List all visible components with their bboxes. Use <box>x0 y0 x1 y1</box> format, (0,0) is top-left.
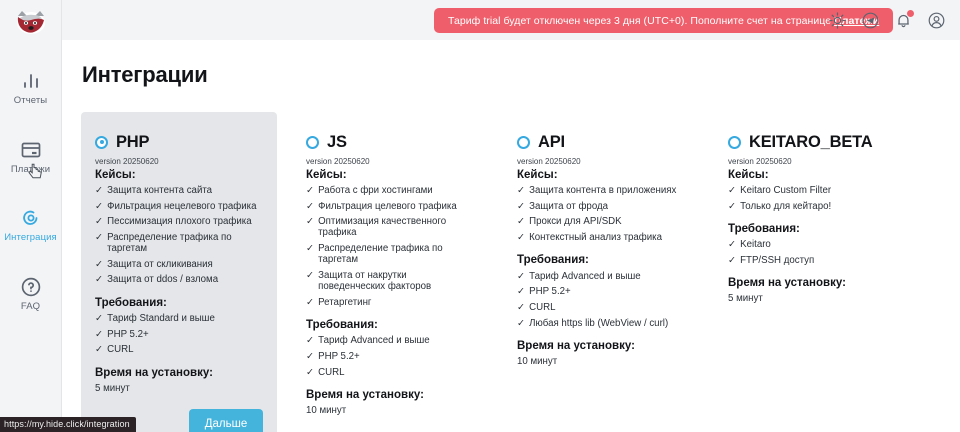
cases-heading: Кейсы: <box>95 169 263 181</box>
case-item: ✓Фильтрация нецелевого трафика <box>95 201 263 212</box>
case-label: Пессимизация плохого трафика <box>107 216 252 227</box>
question-circle-icon <box>19 275 43 299</box>
requirement-item: ✓CURL <box>95 344 263 355</box>
install-time-heading: Время на установку: <box>728 277 896 289</box>
requirement-label: Keitaro <box>740 239 771 250</box>
install-time-heading: Время на установку: <box>95 367 263 379</box>
sidebar: Отчеты Платежи Интеграция <box>0 0 62 432</box>
install-time-heading: Время на установку: <box>517 340 685 352</box>
check-icon: ✓ <box>517 232 525 243</box>
check-icon: ✓ <box>517 185 525 196</box>
case-item: ✓Защита от фрода <box>517 201 685 212</box>
requirement-label: FTP/SSH доступ <box>740 255 814 266</box>
cases-heading: Кейсы: <box>517 169 685 181</box>
card-version: version 20250620 <box>728 157 896 166</box>
card-version: version 20250620 <box>517 157 685 166</box>
check-icon: ✓ <box>95 201 103 212</box>
case-item: ✓Пессимизация плохого трафика <box>95 216 263 227</box>
requirement-item: ✓CURL <box>517 302 685 313</box>
case-item: ✓Защита от накрутки поведенческих фактор… <box>306 270 474 292</box>
radio-api[interactable] <box>517 136 530 149</box>
requirement-label: PHP 5.2+ <box>529 286 571 297</box>
requirement-item: ✓Keitaro <box>728 239 896 250</box>
integration-card-php[interactable]: PHPversion 20250620Кейсы:✓Защита контент… <box>81 112 277 432</box>
radio-keitaro_beta[interactable] <box>728 136 741 149</box>
sidebar-item-label: Отчеты <box>14 96 47 106</box>
case-label: Только для кейтаро! <box>740 201 831 212</box>
check-icon: ✓ <box>95 232 103 254</box>
requirement-item: ✓Тариф Advanced и выше <box>306 335 474 346</box>
card-header: JS <box>306 134 474 151</box>
main-content: Интеграции PHPversion 20250620Кейсы:✓Защ… <box>62 40 960 432</box>
check-icon: ✓ <box>306 335 314 346</box>
check-icon: ✓ <box>306 351 314 362</box>
card-header: KEITARO_BETA <box>728 134 896 151</box>
integration-icon <box>19 206 43 230</box>
requirement-item: ✓PHP 5.2+ <box>517 286 685 297</box>
check-icon: ✓ <box>95 185 103 196</box>
raccoon-logo-icon <box>14 8 48 36</box>
case-label: Защита от накрутки поведенческих факторо… <box>318 270 474 292</box>
case-item: ✓Распределение трафика по таргетам <box>95 232 263 254</box>
sun-icon[interactable] <box>828 11 847 30</box>
case-label: Ретаргетинг <box>318 297 371 308</box>
radio-js[interactable] <box>306 136 319 149</box>
browser-status-bar: https://my.hide.click/integration <box>0 417 136 432</box>
bell-icon[interactable] <box>894 11 913 30</box>
install-time-value: 5 минут <box>95 383 263 394</box>
cases-heading: Кейсы: <box>728 169 896 181</box>
check-icon: ✓ <box>728 201 736 212</box>
case-item: ✓Распределение трафика по таргетам <box>306 243 474 265</box>
check-icon: ✓ <box>517 201 525 212</box>
case-label: Keitaro Custom Filter <box>740 185 831 196</box>
raccoon-logo[interactable] <box>0 2 62 42</box>
requirement-label: Тариф Advanced и выше <box>318 335 429 346</box>
install-time-heading: Время на установку: <box>306 389 474 401</box>
alert-text: Тариф trial будет отключен через 3 дня (… <box>448 15 831 27</box>
case-item: ✓Только для кейтаро! <box>728 201 896 212</box>
notification-badge <box>907 10 914 17</box>
case-label: Защита от ddos / взлома <box>107 274 218 285</box>
check-icon: ✓ <box>517 318 525 329</box>
card-title: KEITARO_BETA <box>749 134 873 151</box>
card-title: PHP <box>116 134 149 151</box>
case-label: Оптимизация качественного трафика <box>318 216 474 238</box>
check-icon: ✓ <box>728 239 736 250</box>
requirement-item: ✓FTP/SSH доступ <box>728 255 896 266</box>
check-icon: ✓ <box>306 185 314 196</box>
requirement-label: Тариф Advanced и выше <box>529 271 640 282</box>
case-item: ✓Работа с фри хостингами <box>306 185 474 196</box>
requirement-item: ✓Тариф Advanced и выше <box>517 271 685 282</box>
requirement-label: PHP 5.2+ <box>318 351 360 362</box>
sidebar-item-reports[interactable]: Отчеты <box>0 60 61 115</box>
requirement-item: ✓PHP 5.2+ <box>95 329 263 340</box>
page-title: Интеграции <box>82 62 208 88</box>
case-item: ✓Защита от ddos / взлома <box>95 274 263 285</box>
card-header: PHP <box>95 134 263 151</box>
sidebar-item-faq[interactable]: FAQ <box>0 266 61 321</box>
case-item: ✓Ретаргетинг <box>306 297 474 308</box>
app-root: Отчеты Платежи Интеграция <box>0 0 960 432</box>
case-label: Распределение трафика по таргетам <box>107 232 263 254</box>
case-item: ✓Защита от скликивания <box>95 259 263 270</box>
case-label: Прокси для API/SDK <box>529 216 622 227</box>
check-icon: ✓ <box>306 243 314 265</box>
sidebar-item-payments[interactable]: Платежи <box>0 129 61 184</box>
card-version: version 20250620 <box>306 157 474 166</box>
check-icon: ✓ <box>95 216 103 227</box>
check-icon: ✓ <box>728 255 736 266</box>
check-icon: ✓ <box>306 367 314 378</box>
check-icon: ✓ <box>95 344 103 355</box>
check-icon: ✓ <box>306 297 314 308</box>
card-title: JS <box>327 134 347 151</box>
integration-card-keitaro_beta[interactable]: KEITARO_BETAversion 20250620Кейсы:✓Keita… <box>714 112 910 432</box>
case-item: ✓Защита контента в приложениях <box>517 185 685 196</box>
check-icon: ✓ <box>728 185 736 196</box>
requirement-label: CURL <box>107 344 133 355</box>
telegram-icon[interactable] <box>861 11 880 30</box>
case-label: Защита контента в приложениях <box>529 185 676 196</box>
case-label: Распределение трафика по таргетам <box>318 243 474 265</box>
case-label: Защита от скликивания <box>107 259 213 270</box>
check-icon: ✓ <box>517 286 525 297</box>
case-item: ✓Прокси для API/SDK <box>517 216 685 227</box>
requirement-item: ✓Тариф Standard и выше <box>95 313 263 324</box>
check-icon: ✓ <box>95 329 103 340</box>
sidebar-nav: Отчеты Платежи Интеграция <box>0 60 61 334</box>
requirements-heading: Требования: <box>306 319 474 331</box>
case-label: Фильтрация нецелевого трафика <box>107 201 256 212</box>
cases-heading: Кейсы: <box>306 169 474 181</box>
case-item: ✓Фильтрация целевого трафика <box>306 201 474 212</box>
requirement-label: CURL <box>318 367 344 378</box>
requirement-item: ✓PHP 5.2+ <box>306 351 474 362</box>
install-time-value: 10 минут <box>517 356 685 367</box>
check-icon: ✓ <box>306 216 314 238</box>
check-icon: ✓ <box>306 270 314 292</box>
card-version: version 20250620 <box>95 157 263 166</box>
case-label: Защита контента сайта <box>107 185 212 196</box>
credit-card-icon <box>19 138 43 162</box>
check-icon: ✓ <box>95 259 103 270</box>
top-header: Тариф trial будет отключен через 3 дня (… <box>62 0 960 40</box>
check-icon: ✓ <box>95 313 103 324</box>
requirement-label: Тариф Standard и выше <box>107 313 215 324</box>
sidebar-item-label: Платежи <box>11 165 50 175</box>
case-label: Работа с фри хостингами <box>318 185 433 196</box>
check-icon: ✓ <box>517 271 525 282</box>
case-label: Защита от фрода <box>529 201 608 212</box>
sidebar-item-label: FAQ <box>21 302 40 312</box>
requirements-heading: Требования: <box>517 254 685 266</box>
case-item: ✓Контекстный анализ трафика <box>517 232 685 243</box>
case-item: ✓Keitaro Custom Filter <box>728 185 896 196</box>
case-label: Контекстный анализ трафика <box>529 232 662 243</box>
case-item: ✓Защита контента сайта <box>95 185 263 196</box>
requirement-item: ✓CURL <box>306 367 474 378</box>
requirements-heading: Требования: <box>728 223 896 235</box>
case-label: Фильтрация целевого трафика <box>318 201 457 212</box>
check-icon: ✓ <box>306 201 314 212</box>
check-icon: ✓ <box>517 216 525 227</box>
card-header: API <box>517 134 685 151</box>
sidebar-item-label: Интеграция <box>4 233 57 243</box>
card-title: API <box>538 134 565 151</box>
integration-cards: PHPversion 20250620Кейсы:✓Защита контент… <box>81 112 956 432</box>
requirement-item: ✓Любая https lib (WebView / curl) <box>517 318 685 329</box>
user-avatar-icon[interactable] <box>927 11 946 30</box>
install-time-value: 5 минут <box>728 293 896 304</box>
requirement-label: Любая https lib (WebView / curl) <box>529 318 668 329</box>
install-time-value: 10 минут <box>306 405 474 416</box>
case-item: ✓Оптимизация качественного трафика <box>306 216 474 238</box>
bar-chart-icon <box>19 69 43 93</box>
check-icon: ✓ <box>517 302 525 313</box>
radio-php[interactable] <box>95 136 108 149</box>
trial-alert-banner: Тариф trial будет отключен через 3 дня (… <box>434 8 893 33</box>
integration-card-js[interactable]: JSversion 20250620Кейсы:✓Работа с фри хо… <box>292 112 488 432</box>
next-button[interactable]: Дальше <box>189 409 263 432</box>
requirements-heading: Требования: <box>95 297 263 309</box>
check-icon: ✓ <box>95 274 103 285</box>
sidebar-item-integration[interactable]: Интеграция <box>0 197 61 252</box>
requirement-label: CURL <box>529 302 555 313</box>
integration-card-api[interactable]: APIversion 20250620Кейсы:✓Защита контент… <box>503 112 699 432</box>
requirement-label: PHP 5.2+ <box>107 329 149 340</box>
